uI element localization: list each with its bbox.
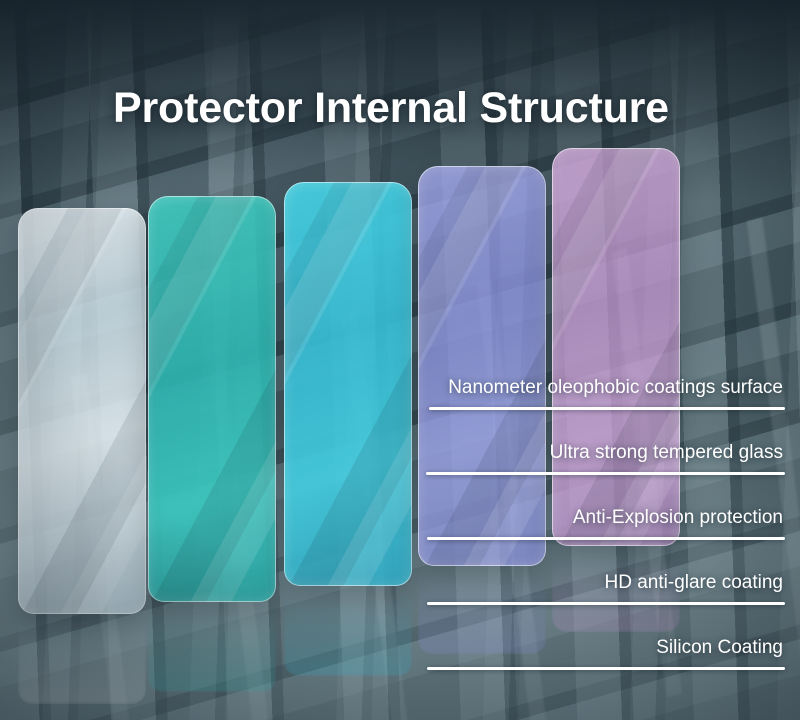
callout-anti-glare: HD anti-glare coating (427, 573, 785, 605)
callout-label: Nanometer oleophobic coatings surface (429, 378, 785, 399)
callout-label: Anti-Explosion protection (427, 508, 785, 529)
callout-label: HD anti-glare coating (427, 573, 785, 594)
callout-rule (427, 537, 785, 540)
callout-rule (427, 667, 785, 670)
callout-rule (429, 407, 785, 410)
callout-label: Silicon Coating (427, 638, 785, 659)
callout-tempered: Ultra strong tempered glass (426, 443, 785, 475)
callout-anti-explosion: Anti-Explosion protection (427, 508, 785, 540)
product-structure-infographic: Protector Internal Structure Nanometer o… (0, 0, 800, 720)
page-title: Protector Internal Structure (113, 84, 669, 132)
callout-silicon: Silicon Coating (427, 638, 785, 670)
callout-rule (427, 602, 785, 605)
callout-rule (426, 472, 785, 475)
callout-oleophobic: Nanometer oleophobic coatings surface (429, 378, 785, 410)
callout-label: Ultra strong tempered glass (426, 443, 785, 464)
